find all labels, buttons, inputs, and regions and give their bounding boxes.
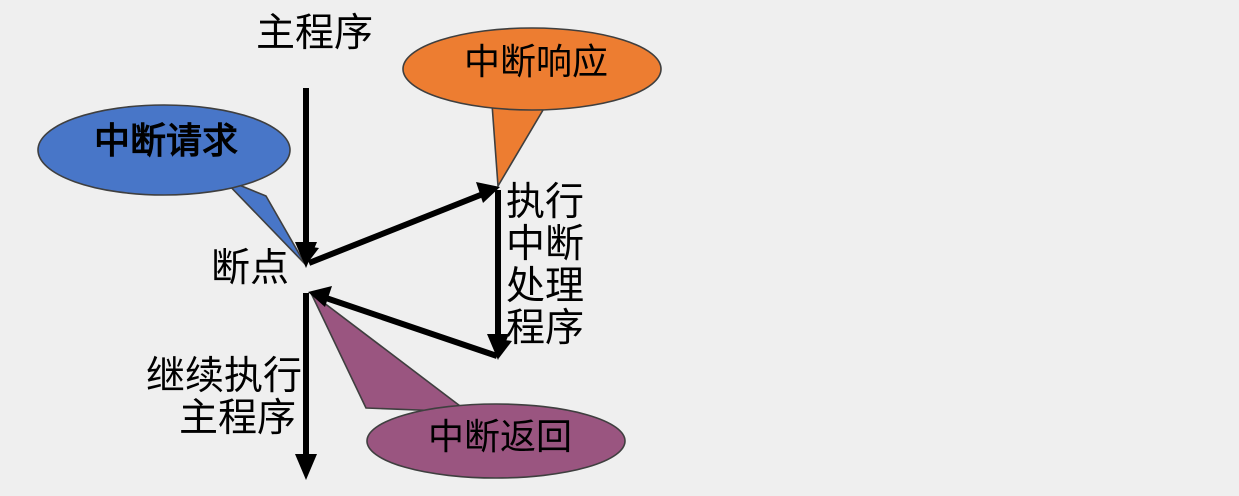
label-continue-main-program: 继续执行 主程序 (146, 356, 296, 440)
label-breakpoint: 断点 (211, 249, 289, 289)
callout-interrupt-return-tail (311, 293, 468, 412)
arrow-enter-isr (298, 182, 500, 265)
callout-label-interrupt-acknowledge: 中断响应 (446, 45, 626, 82)
interrupt-flow-diagram: 主程序 断点 继续执行 主程序 执行 中断 处理 程序 中断请求 中断响应 中断… (0, 0, 1239, 496)
callout-label-interrupt-request: 中断请求 (76, 124, 256, 161)
arrow-main-program (295, 88, 317, 268)
label-main-program: 主程序 (256, 14, 373, 54)
callout-interrupt-acknowledge-tail (492, 104, 546, 186)
label-isr-execution: 执行 中断 处理 程序 (506, 182, 606, 350)
callout-label-interrupt-return: 中断返回 (410, 420, 590, 457)
